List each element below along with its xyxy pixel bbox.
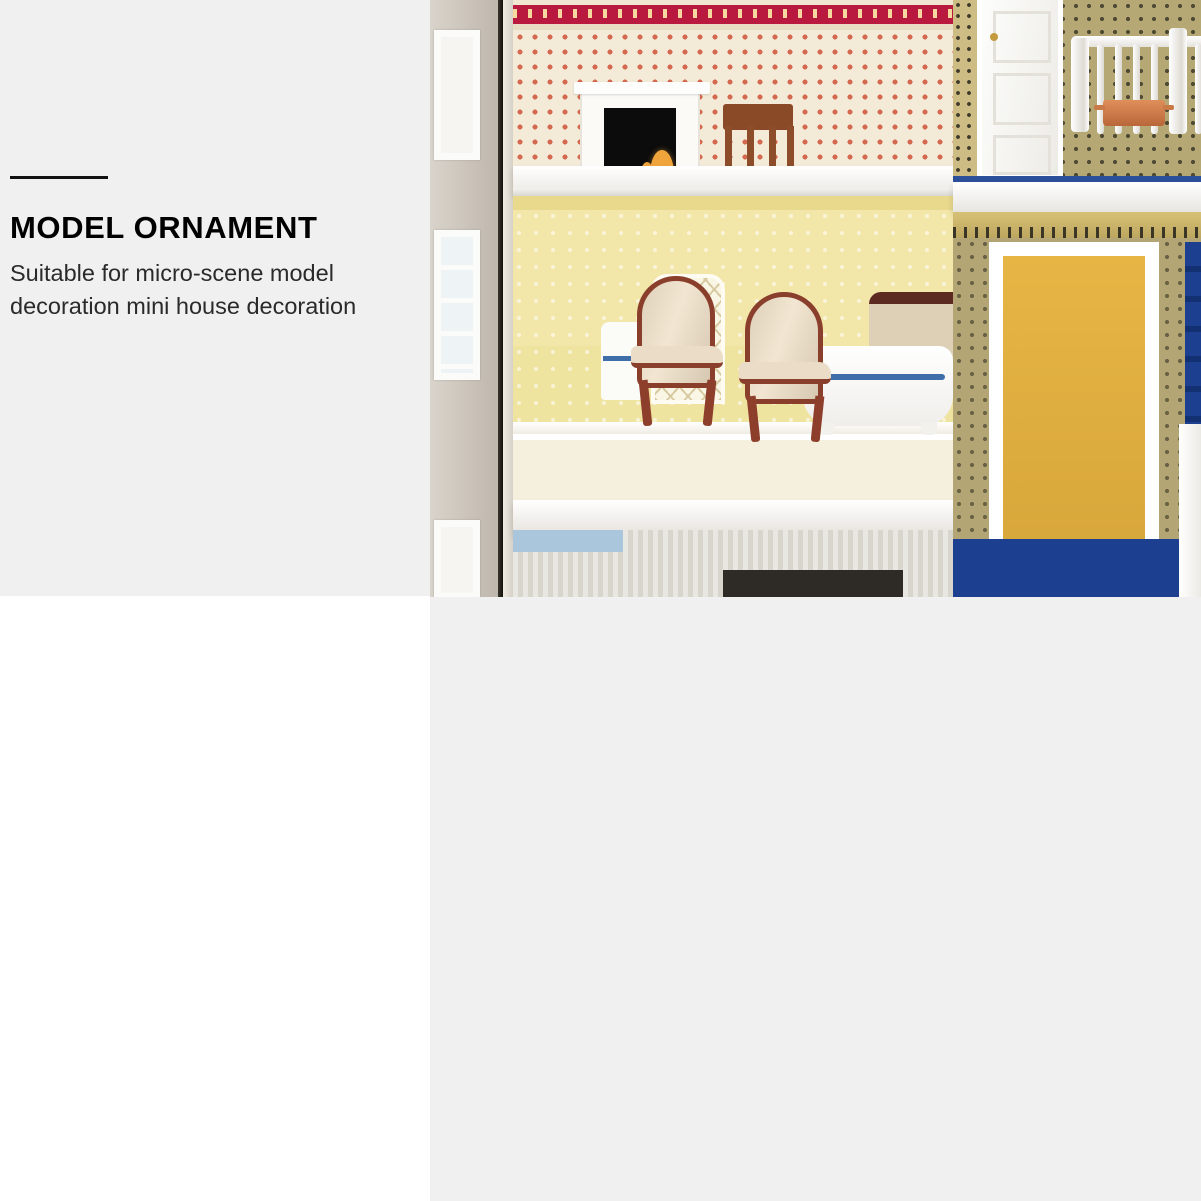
- blue-bedspread: [513, 530, 623, 552]
- miniature-wooden-chair: [715, 104, 801, 170]
- armchair-arm: [739, 362, 831, 384]
- door-knob-icon: [990, 33, 998, 41]
- miniature-panel-door: [977, 0, 1063, 180]
- lower-room-shadow: [723, 570, 903, 597]
- staircase-balustrade: [1071, 28, 1201, 158]
- chair-top-rail: [723, 104, 793, 130]
- door-panel: [993, 11, 1051, 63]
- miniature-copper-pot: [1103, 100, 1165, 126]
- dollhouse-wall-edge: [503, 0, 513, 597]
- upper-landing: [953, 0, 1201, 186]
- door-panel: [993, 73, 1051, 125]
- exterior-window-bottom: [434, 520, 480, 597]
- baluster: [1195, 44, 1201, 134]
- ground-floor-hallway: [953, 212, 1201, 597]
- floor-slab-right: [953, 182, 1201, 212]
- exterior-window-top: [434, 30, 480, 160]
- hallway-frieze-trim: [953, 212, 1201, 238]
- blue-floor-carpet: [953, 539, 1201, 597]
- bathtub-foot: [921, 423, 937, 435]
- dollhouse-middle-room: [513, 196, 953, 516]
- heading-divider-rule: [10, 176, 108, 179]
- door-panel: [993, 135, 1051, 175]
- dollhouse-right-wing: [953, 0, 1201, 597]
- feature-body-1: Suitable for micro-scene model decoratio…: [10, 257, 425, 324]
- exterior-window-middle: [434, 230, 480, 380]
- miniature-armchair-left: [631, 276, 723, 426]
- feature-text-block-1: MODEL ORNAMENT Suitable for micro-scene …: [10, 176, 425, 324]
- chair-spindle: [769, 126, 776, 170]
- landing-wallpaper-strip: [953, 0, 977, 186]
- dollhouse-lower-strip: [513, 530, 973, 597]
- dollhouse-exterior-wall: [430, 0, 500, 597]
- dollhouse-scene: [430, 0, 1201, 597]
- chair-spindle: [747, 126, 754, 170]
- miniature-armchair-right: [739, 292, 831, 442]
- armchair-back: [745, 292, 823, 404]
- product-photo-panel: [0, 596, 430, 1201]
- chair-spindle: [787, 126, 794, 170]
- floor-slab-middle: [513, 500, 973, 534]
- right-wall-trim: [1179, 424, 1201, 597]
- newel-post: [1169, 28, 1187, 134]
- dollhouse-interior-photo: [430, 0, 1201, 597]
- product-feature-sheet: MODEL ORNAMENT Suitable for micro-scene …: [0, 0, 1201, 1201]
- feature-heading-1: MODEL ORNAMENT: [10, 211, 425, 245]
- fireplace-mantel: [574, 82, 710, 94]
- feature-panel-model-ornament: MODEL ORNAMENT Suitable for micro-scene …: [0, 0, 430, 596]
- newel-post: [1071, 38, 1089, 132]
- chair-spindle: [725, 126, 732, 170]
- fireplace-firebox: [604, 108, 676, 170]
- miniature-fireplace: [580, 88, 700, 170]
- feature-panel-multi-scene-use: MULTI SCENE USE It is not easy to deform…: [430, 597, 1201, 1201]
- armchair-arm: [631, 346, 723, 368]
- armchair-back: [637, 276, 715, 388]
